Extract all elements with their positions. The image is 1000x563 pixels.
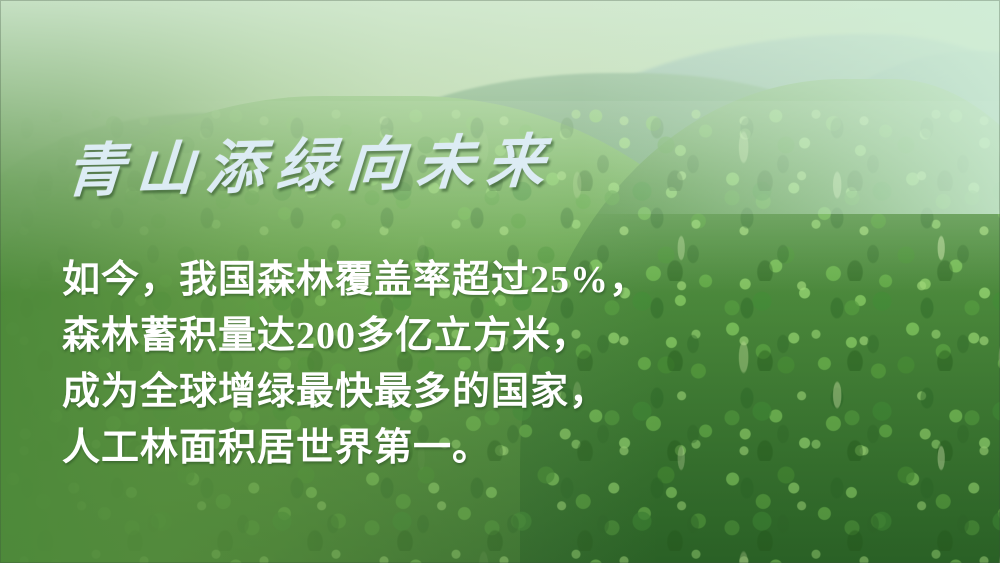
body-line-4: 人工林面积居世界第一。: [62, 420, 682, 476]
slide-canvas: 青山添绿向未来 如今，我国森林覆盖率超过25%， 森林蓄积量达200多亿立方米，…: [0, 0, 1000, 563]
body-line-3: 成为全球增绿最快最多的国家，: [62, 364, 682, 420]
slide-content: 青山添绿向未来 如今，我国森林覆盖率超过25%， 森林蓄积量达200多亿立方米，…: [0, 0, 1000, 563]
body-line-2: 森林蓄积量达200多亿立方米，: [62, 308, 682, 364]
body-text-block: 如今，我国森林覆盖率超过25%， 森林蓄积量达200多亿立方米， 成为全球增绿最…: [62, 252, 682, 476]
body-line-1: 如今，我国森林覆盖率超过25%，: [62, 252, 682, 308]
headline-title: 青山添绿向未来: [64, 131, 629, 201]
